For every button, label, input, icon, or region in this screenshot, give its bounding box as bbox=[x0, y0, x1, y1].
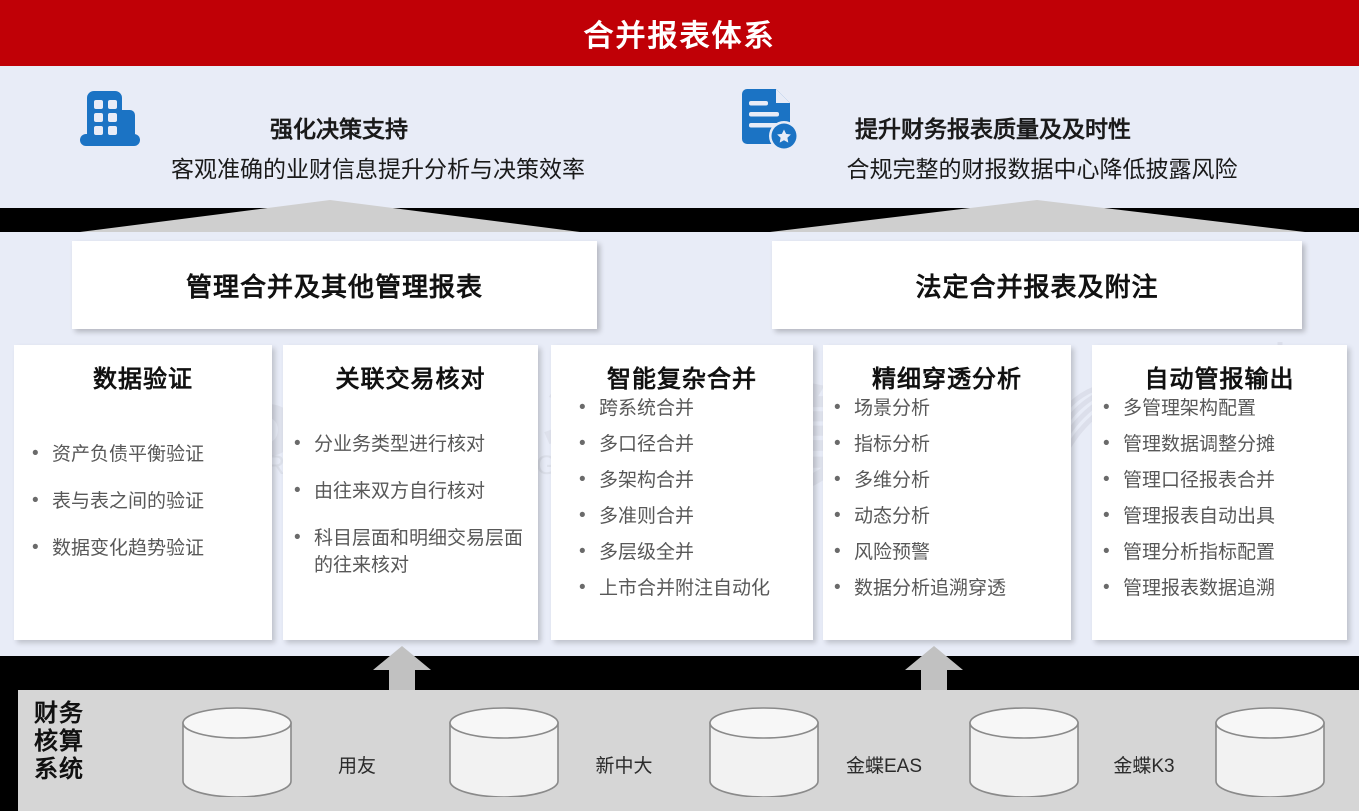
building-icon bbox=[75, 84, 145, 154]
source-system-label: 金蝶EAS bbox=[824, 751, 944, 778]
list-item: 管理报表数据追溯 bbox=[1097, 576, 1347, 603]
list-item: 多层级全并 bbox=[573, 540, 813, 567]
up-arrow-icon bbox=[371, 644, 433, 692]
feature-card-title: 数据验证 bbox=[14, 359, 272, 394]
feature-card-title: 精细穿透分析 bbox=[823, 359, 1071, 394]
benefit-subtext: 合规完整的财报数据中心降低披露风险 bbox=[722, 150, 1359, 184]
flat-up-arrow-icon bbox=[80, 196, 580, 236]
divider-band-lower bbox=[0, 656, 1359, 690]
source-system-label: 金蝶K3 bbox=[1084, 751, 1204, 778]
feature-card-title: 关联交易核对 bbox=[283, 359, 538, 394]
benefit-block-decision-support: 强化决策支持 客观准确的业财信息提升分析与决策效率 bbox=[30, 66, 670, 208]
feature-card-title: 自动管报输出 bbox=[1092, 359, 1347, 394]
group-box-management-reports[interactable]: 管理合并及其他管理报表 bbox=[72, 241, 597, 329]
source-system-label: 用友 bbox=[297, 751, 417, 778]
list-item: 由往来双方自行核对 bbox=[288, 479, 538, 506]
source-system-cylinder[interactable]: 新中大 bbox=[444, 707, 564, 797]
list-item: 动态分析 bbox=[828, 504, 1071, 531]
source-title-line-1: 财务 bbox=[34, 700, 126, 728]
benefits-band: 强化决策支持 客观准确的业财信息提升分析与决策效率 提升财务报表质量及及时性 合… bbox=[0, 66, 1359, 208]
source-systems-title: 财务 核算 系统 bbox=[34, 700, 126, 783]
group-label: 法定合并报表及附注 bbox=[915, 267, 1158, 304]
list-item: 场景分析 bbox=[828, 396, 1071, 423]
source-title-line-3: 系统 bbox=[34, 756, 126, 784]
feature-card-drilldown-analysis[interactable]: 精细穿透分析 场景分析 指标分析 多维分析 动态分析 风险预警 数据分析追溯穿透 bbox=[823, 345, 1071, 640]
source-title-line-2: 核算 bbox=[34, 728, 126, 756]
page-title-bar: 合并报表体系 bbox=[0, 0, 1359, 66]
slide-root: 合并报表体系 强化决策支持 客观准确的业财信息提升分析与决策效率 bbox=[0, 0, 1359, 811]
group-label: 管理合并及其他管理报表 bbox=[186, 267, 483, 304]
feature-card-data-validation[interactable]: 数据验证 资产负债平衡验证 表与表之间的验证 数据变化趋势验证 bbox=[14, 345, 272, 640]
source-system-cylinder[interactable]: 用友 bbox=[177, 707, 297, 797]
list-item: 数据变化趋势验证 bbox=[26, 536, 272, 563]
feature-card-intelligent-consolidation[interactable]: 智能复杂合并 跨系统合并 多口径合并 多架构合并 多准则合并 多层级全并 上市合… bbox=[551, 345, 813, 640]
list-item: 跨系统合并 bbox=[573, 396, 813, 423]
list-item: 多架构合并 bbox=[573, 468, 813, 495]
list-item: 科目层面和明细交易层面的往来核对 bbox=[288, 526, 538, 580]
feature-item-list: 跨系统合并 多口径合并 多架构合并 多准则合并 多层级全并 上市合并附注自动化 bbox=[551, 396, 813, 603]
feature-item-list: 场景分析 指标分析 多维分析 动态分析 风险预警 数据分析追溯穿透 bbox=[823, 396, 1071, 603]
source-system-cylinder[interactable]: …… bbox=[1210, 707, 1330, 797]
source-system-cylinder[interactable]: 金蝶K3 bbox=[964, 707, 1084, 797]
list-item: 多口径合并 bbox=[573, 432, 813, 459]
list-item: 多准则合并 bbox=[573, 504, 813, 531]
page-title: 合并报表体系 bbox=[584, 11, 776, 55]
flat-up-arrow-icon bbox=[770, 196, 1305, 236]
benefit-subtext: 客观准确的业财信息提升分析与决策效率 bbox=[58, 150, 698, 184]
list-item: 多管理架构配置 bbox=[1097, 396, 1347, 423]
list-item: 管理报表自动出具 bbox=[1097, 504, 1347, 531]
feature-item-list: 多管理架构配置 管理数据调整分摊 管理口径报表合并 管理报表自动出具 管理分析指… bbox=[1092, 396, 1347, 603]
feature-item-list: 分业务类型进行核对 由往来双方自行核对 科目层面和明细交易层面的往来核对 bbox=[283, 432, 538, 580]
list-item: 管理分析指标配置 bbox=[1097, 540, 1347, 567]
list-item: 多维分析 bbox=[828, 468, 1071, 495]
feature-card-related-party-reconciliation[interactable]: 关联交易核对 分业务类型进行核对 由往来双方自行核对 科目层面和明细交易层面的往… bbox=[283, 345, 538, 640]
list-item: 指标分析 bbox=[828, 432, 1071, 459]
list-item: 数据分析追溯穿透 bbox=[828, 576, 1071, 603]
feature-item-list: 资产负债平衡验证 表与表之间的验证 数据变化趋势验证 bbox=[14, 442, 272, 563]
list-item: 分业务类型进行核对 bbox=[288, 432, 538, 459]
list-item: 资产负债平衡验证 bbox=[26, 442, 272, 469]
group-box-statutory-reports[interactable]: 法定合并报表及附注 bbox=[772, 241, 1302, 329]
feature-card-title: 智能复杂合并 bbox=[551, 359, 813, 394]
source-system-cylinder[interactable]: 金蝶EAS bbox=[704, 707, 824, 797]
benefit-heading: 强化决策支持 bbox=[270, 110, 408, 144]
list-item: 管理口径报表合并 bbox=[1097, 468, 1347, 495]
source-system-label: 新中大 bbox=[564, 751, 684, 778]
source-systems-band: 财务 核算 系统 用友 新中大 金蝶EAS bbox=[18, 690, 1359, 811]
list-item: 表与表之间的验证 bbox=[26, 489, 272, 516]
document-star-icon bbox=[732, 84, 802, 154]
list-item: 风险预警 bbox=[828, 540, 1071, 567]
list-item: 上市合并附注自动化 bbox=[573, 576, 813, 603]
feature-card-automated-management-reporting[interactable]: 自动管报输出 多管理架构配置 管理数据调整分摊 管理口径报表合并 管理报表自动出… bbox=[1092, 345, 1347, 640]
benefit-heading: 提升财务报表质量及及时性 bbox=[855, 110, 1131, 144]
benefit-block-report-quality: 提升财务报表质量及及时性 合规完整的财报数据中心降低披露风险 bbox=[700, 66, 1340, 208]
up-arrow-icon bbox=[903, 644, 965, 692]
source-system-label: …… bbox=[1330, 751, 1359, 773]
list-item: 管理数据调整分摊 bbox=[1097, 432, 1347, 459]
